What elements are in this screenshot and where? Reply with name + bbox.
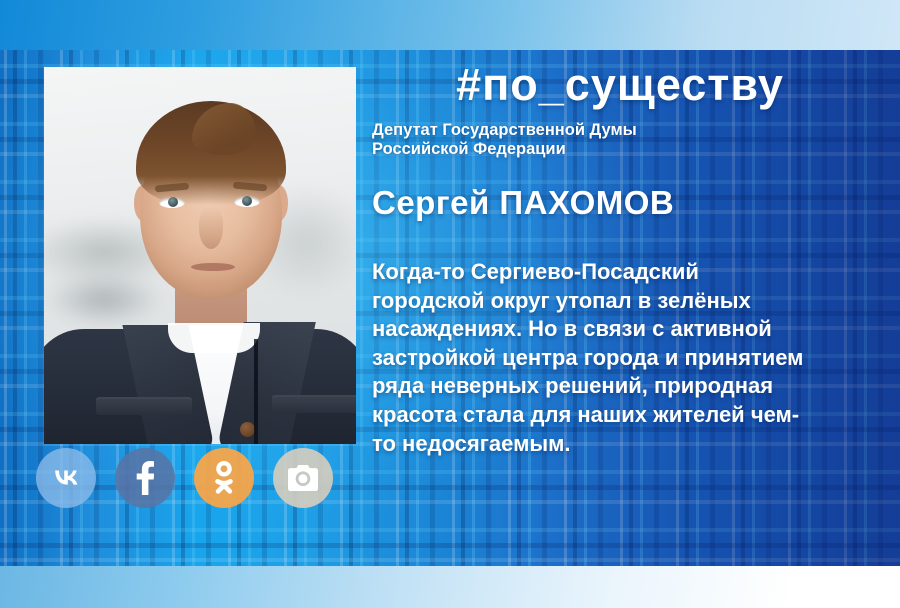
text-column: #по_существу Депутат Государственной Дум…: [372, 62, 868, 458]
social-link-odnoklassniki[interactable]: [194, 448, 254, 508]
portrait-pupil-left: [168, 197, 178, 207]
portrait-pupil-right: [242, 196, 252, 206]
portrait-mouth: [191, 263, 235, 271]
social-link-vk[interactable]: [36, 448, 96, 508]
banner-canvas: #по_существу Депутат Государственной Дум…: [0, 0, 900, 608]
portrait-photo: [44, 67, 356, 444]
social-links: [36, 448, 333, 508]
subtitle-line-2: Российской Федерации: [372, 140, 868, 159]
vk-icon: [49, 467, 83, 489]
portrait-pocket-right: [272, 395, 356, 413]
bottom-gradient-band: [0, 566, 900, 608]
social-link-facebook[interactable]: [115, 448, 175, 508]
portrait-pocket-left: [96, 397, 192, 415]
portrait-jacket-zip: [254, 339, 258, 444]
top-gradient-band: [0, 0, 900, 52]
odnoklassniki-icon: [212, 461, 236, 495]
social-link-instagram[interactable]: [273, 448, 333, 508]
quote-text: Когда-то Сергиево-Посадский городской ок…: [372, 258, 812, 458]
hashtag-title: #по_существу: [372, 62, 868, 107]
person-name: Сергей ПАХОМОВ: [372, 184, 868, 222]
portrait-shirt-collar: [168, 323, 260, 353]
portrait-jacket-button: [240, 422, 255, 437]
subtitle-block: Депутат Государственной Думы Российской …: [372, 121, 868, 160]
subtitle-line-1: Депутат Государственной Думы: [372, 121, 868, 140]
instagram-icon: [288, 465, 318, 491]
portrait-bokeh-2: [44, 272, 164, 327]
portrait-nose: [199, 207, 223, 249]
portrait-chin-shadow: [181, 275, 243, 297]
facebook-icon: [136, 461, 154, 495]
